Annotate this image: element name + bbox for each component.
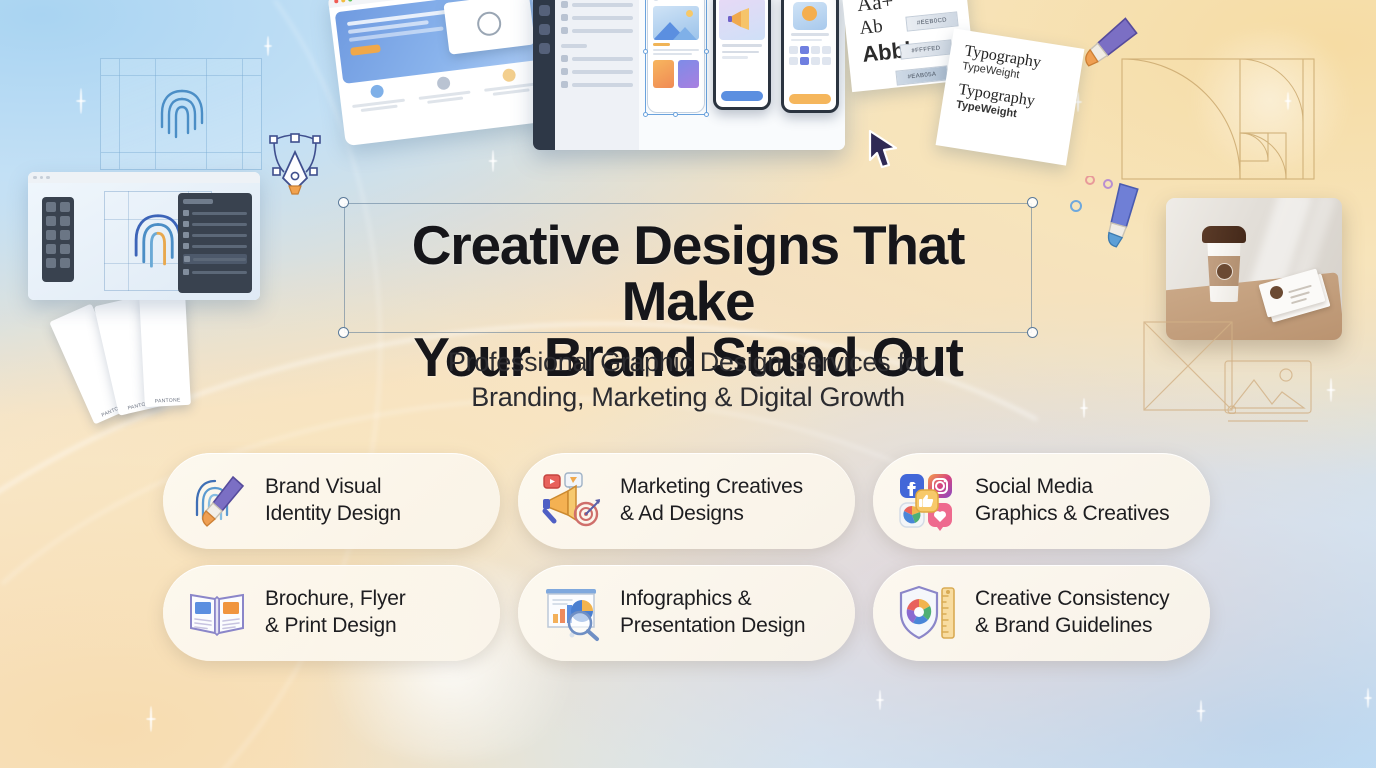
app-canvas	[28, 183, 260, 300]
service-card-label: Social Media Graphics & Creatives	[975, 474, 1169, 527]
service-card-social-media[interactable]: Social Media Graphics & Creatives	[873, 453, 1210, 549]
service-card-infographics[interactable]: Infographics & Presentation Design	[518, 565, 855, 661]
service-label-line2: & Print Design	[265, 613, 406, 640]
service-label-line2: & Brand Guidelines	[975, 613, 1169, 640]
service-card-grid: Brand Visual Identity Design	[163, 453, 1213, 661]
service-label-line2: Presentation Design	[620, 613, 805, 640]
subhead-line-1: Professional Graphic Design Services for	[344, 345, 1032, 380]
coffee-cup	[1202, 226, 1246, 302]
swatch-label: PANTONE	[145, 397, 191, 405]
poster-canvas: Aa+ Ab Abbb #EEB0CD #FFFFED #EAB05A Typo…	[0, 0, 1376, 768]
fibonacci-golden-ratio-diagram	[1118, 55, 1318, 183]
service-label-line1: Creative Consistency	[975, 586, 1169, 613]
business-cards	[1262, 276, 1328, 316]
design-canvas-fingerprint-logo	[28, 172, 260, 300]
service-card-label: Creative Consistency & Brand Guidelines	[975, 586, 1169, 639]
swatch-card: PANTONE	[139, 293, 191, 407]
service-label-line1: Brochure, Flyer	[265, 586, 406, 613]
service-card-brand-visual-identity[interactable]: Brand Visual Identity Design	[163, 453, 500, 549]
design-canvas	[639, 0, 845, 150]
chart-magnifier-icon	[542, 583, 602, 643]
shield-colorwheel-ruler-icon	[897, 583, 957, 643]
service-card-label: Brochure, Flyer & Print Design	[265, 586, 406, 639]
paintbrush-icon	[1084, 12, 1138, 79]
phone-screen-mockup	[781, 0, 839, 113]
design-app-with-phone-screens	[533, 0, 845, 150]
color-dot-icon	[1066, 176, 1114, 221]
service-label-line1: Social Media	[975, 474, 1169, 501]
page-subtitle: Professional Graphic Design Services for…	[344, 345, 1032, 414]
pen-bezier-tool-icon	[262, 124, 328, 198]
service-card-label: Brand Visual Identity Design	[265, 474, 401, 527]
headline-line-1: Creative Designs That Make	[344, 217, 1032, 329]
service-label-line2: Graphics & Creatives	[975, 501, 1169, 528]
layers-sidebar	[555, 0, 639, 150]
service-card-creative-consistency[interactable]: Creative Consistency & Brand Guidelines	[873, 565, 1210, 661]
megaphone-target-icon	[542, 471, 602, 531]
subhead-line-2: Branding, Marketing & Digital Growth	[344, 380, 1032, 415]
service-card-label: Marketing Creatives & Ad Designs	[620, 474, 803, 527]
service-card-label: Infographics & Presentation Design	[620, 586, 805, 639]
fingerprint-grid-logo	[100, 58, 262, 170]
tool-rail	[533, 0, 555, 150]
app-layers-panel	[178, 193, 252, 293]
pantone-swatch-fan: PANTONE PANTONE PANTONE	[66, 292, 216, 424]
service-label-line1: Marketing Creatives	[620, 474, 803, 501]
service-label-line2: Identity Design	[265, 501, 401, 528]
open-book-icon	[187, 583, 247, 643]
fingerprint-brush-icon	[187, 471, 247, 531]
image-placeholder-icon	[1222, 358, 1314, 426]
service-label-line1: Infographics &	[620, 586, 805, 613]
service-card-marketing-creatives[interactable]: Marketing Creatives & Ad Designs	[518, 453, 855, 549]
phone-screen-mockup	[647, 0, 705, 113]
service-card-brochure-print[interactable]: Brochure, Flyer & Print Design	[163, 565, 500, 661]
app-title-bar	[28, 172, 260, 183]
service-label-line2: & Ad Designs	[620, 501, 803, 528]
browser-window-mockup	[328, 0, 553, 146]
typography-weight-card: Typography TypeWeight Typography TypeWei…	[936, 28, 1085, 165]
service-label-line1: Brand Visual	[265, 474, 401, 501]
phone-screen-mockup	[713, 0, 771, 110]
arrow-cursor	[866, 128, 902, 170]
social-apps-icon	[897, 471, 957, 531]
app-toolbar	[42, 197, 74, 282]
